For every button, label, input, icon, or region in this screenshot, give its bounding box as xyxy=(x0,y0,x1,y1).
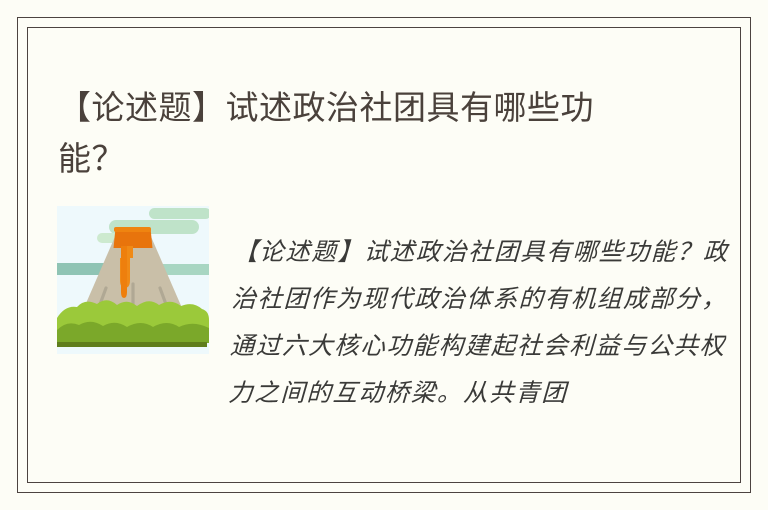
article-card-page: 【论述题】试述政治社团具有哪些功能？ xyxy=(0,0,768,510)
card-content: 【论述题】试述政治社团具有哪些功能？ xyxy=(28,28,740,482)
cloud-top-right-icon xyxy=(149,208,209,219)
bush-layer-front xyxy=(57,322,209,343)
article-body-area: 【论述题】试述政治社团具有哪些功能？政治社团作为现代政治体系的有机组成部分，通过… xyxy=(57,204,730,482)
volcano-scene-svg xyxy=(57,206,209,354)
lava-drip xyxy=(121,246,127,298)
article-body-text: 【论述题】试述政治社团具有哪些功能？政治社团作为现代政治体系的有机组成部分，通过… xyxy=(227,229,730,417)
volcano-illustration xyxy=(57,206,209,354)
page-title: 【论述题】试述政治社团具有哪些功能？ xyxy=(58,82,658,184)
ground-strip xyxy=(57,342,207,347)
crater-rim xyxy=(114,227,151,232)
